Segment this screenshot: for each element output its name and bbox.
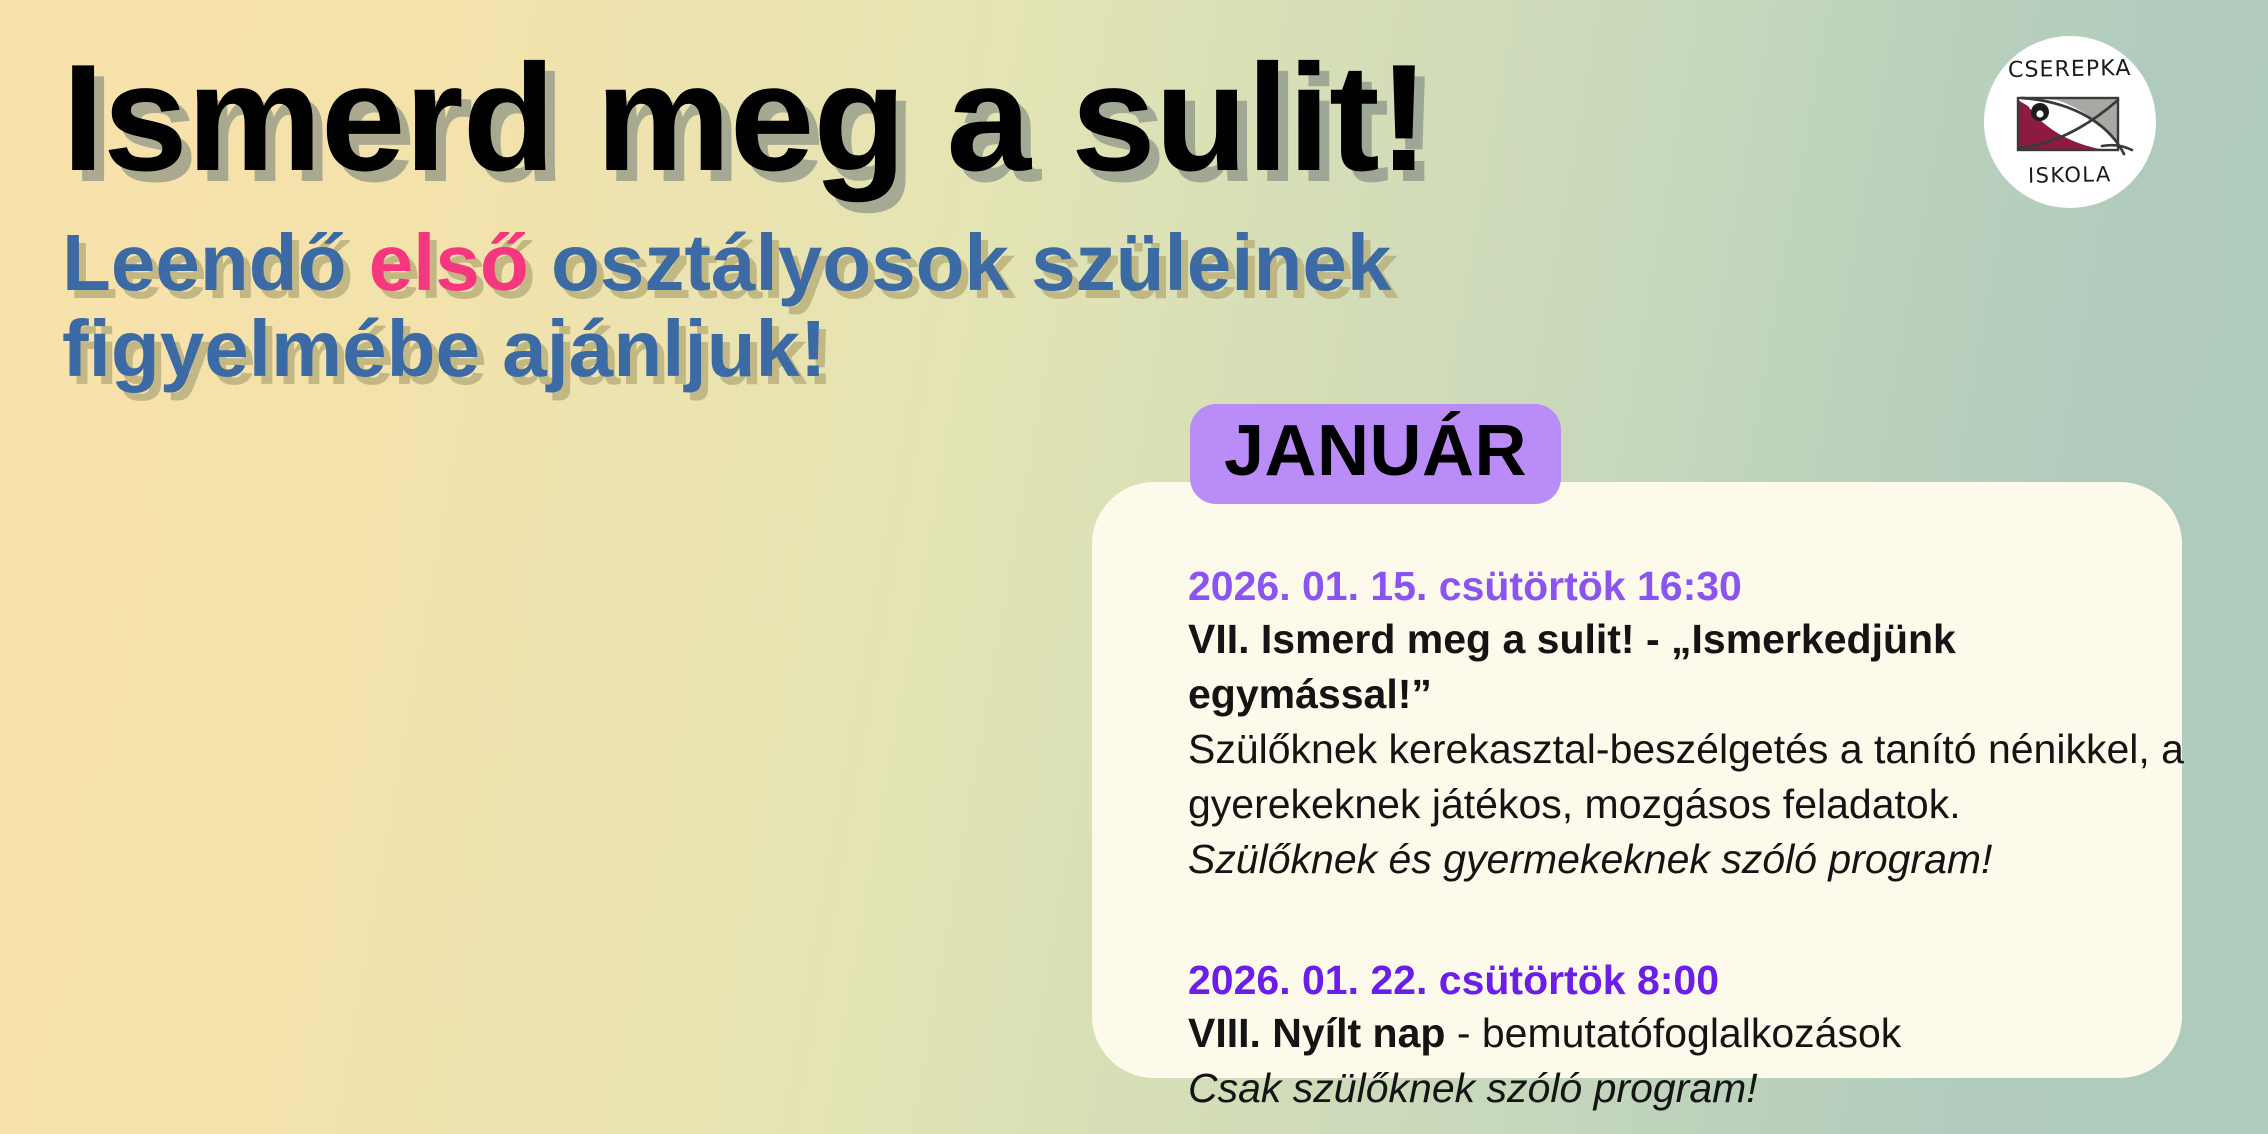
- subtitle-accent-word: első: [369, 218, 529, 307]
- page-subtitle: Leendő első osztályosok szüleinek figyel…: [62, 220, 1862, 391]
- event-title-bold-1: VII. Ismerd meg a sulit! - „Ismerkedjünk…: [1188, 616, 1956, 717]
- headline-block: Ismerd meg a sulit! Leendő első osztályo…: [62, 42, 1862, 391]
- event-title-rest-2: - bemutatófoglalkozások: [1445, 1010, 1901, 1056]
- subtitle-text-before-accent: Leendő: [62, 218, 369, 307]
- logo-bottom-label: ISKOLA: [2028, 162, 2112, 187]
- event-item-1: 2026. 01. 15. csütörtök 16:30 VII. Ismer…: [1188, 560, 2198, 888]
- logo-top-label: CSEREPKA: [2008, 56, 2132, 83]
- event-date-2: 2026. 01. 22. csütörtök 8:00: [1188, 954, 2198, 1006]
- event-note-1: Szülőknek és gyermekeknek szóló program!: [1188, 832, 2198, 887]
- school-logo: CSEREPKA ISKOLA: [1984, 36, 2156, 208]
- event-desc-line-1b: gyerekeknek játékos, mozgásos feladatok.: [1188, 777, 2198, 832]
- events-list: 2026. 01. 15. csütörtök 16:30 VII. Ismer…: [1188, 560, 2198, 1116]
- event-title-bold-2: VIII. Nyílt nap: [1188, 1010, 1445, 1056]
- subtitle-line-2: figyelmébe ajánljuk!: [62, 306, 1862, 392]
- event-note-2: Csak szülőknek szóló program!: [1188, 1061, 2198, 1116]
- event-title-1: VII. Ismerd meg a sulit! - „Ismerkedjünk…: [1188, 612, 2198, 721]
- page-title: Ismerd meg a sulit!: [62, 42, 1862, 194]
- event-title-2: VIII. Nyílt nap - bemutatófoglalkozások: [1188, 1006, 2198, 1061]
- event-date-1: 2026. 01. 15. csütörtök 16:30: [1188, 560, 2198, 612]
- month-badge: JANUÁR: [1190, 404, 1561, 504]
- subtitle-line-1: Leendő első osztályosok szüleinek: [62, 220, 1862, 306]
- poster-root: Ismerd meg a sulit! Leendő első osztályo…: [0, 0, 2268, 1134]
- fish-icon: [2006, 84, 2134, 162]
- event-item-2: 2026. 01. 22. csütörtök 8:00 VIII. Nyílt…: [1188, 954, 2198, 1116]
- event-desc-1: Szülőknek kerekasztal-beszélgetés a taní…: [1188, 722, 2198, 833]
- event-desc-line-1a: Szülőknek kerekasztal-beszélgetés a taní…: [1188, 722, 2198, 777]
- subtitle-text-after-accent: osztályosok szüleinek: [529, 218, 1392, 307]
